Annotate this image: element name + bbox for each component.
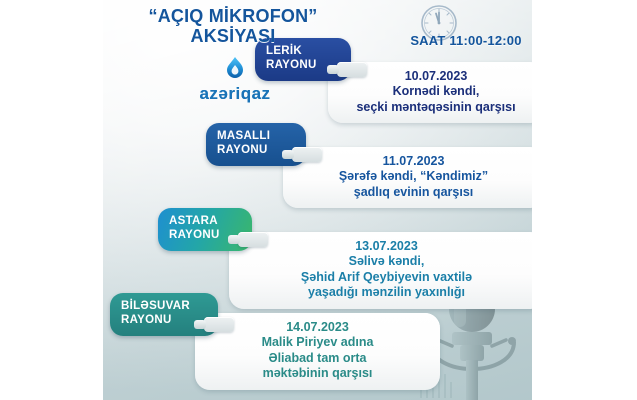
- connector-nub-icon: [204, 317, 234, 332]
- event-place-line-1: Malik Piriyev adına: [205, 335, 430, 351]
- gas-flame-icon: [223, 56, 247, 82]
- event-date: 11.07.2023: [293, 154, 532, 169]
- connector-nub-icon: [238, 232, 268, 247]
- page-title: “AÇIQ MİKROFON” AKSİYASI: [103, 6, 363, 46]
- district-badge-bilesuvar[interactable]: BİLƏSUVAR RAYONU: [110, 293, 218, 336]
- event-date: 13.07.2023: [239, 239, 532, 254]
- letterbox-left: [0, 0, 104, 400]
- district-name-line-1: ASTARA: [169, 215, 218, 227]
- event-card-astara[interactable]: 13.07.2023 Səlivə kəndi, Şəhid Arif Qeyb…: [229, 232, 532, 309]
- event-place-line-2: Əliabad tam orta: [205, 351, 430, 367]
- event-place-line-2: şadlıq evinin qarşısı: [293, 185, 532, 201]
- event-date: 10.07.2023: [338, 69, 532, 84]
- district-name-line-1: MASALLI: [217, 130, 270, 142]
- title-line-1: “AÇIQ MİKROFON”: [149, 6, 318, 26]
- announcement-poster: “AÇIQ MİKROFON” AKSİYASI azəriqaz: [103, 0, 532, 400]
- district-badge-astara[interactable]: ASTARA RAYONU: [158, 208, 252, 251]
- district-name-line-1: BİLƏSUVAR: [121, 300, 190, 312]
- letterbox-right: [532, 0, 637, 400]
- logo-text: azəriqaz: [125, 84, 345, 104]
- time-label: SAAT 11:00-12:00: [371, 33, 532, 48]
- event-place-line-1: Şərəfə kəndi, “Kəndimiz”: [293, 169, 532, 185]
- event-place-line-3: məktəbinin qarşısı: [205, 366, 430, 382]
- connector-nub-icon: [292, 147, 322, 162]
- event-place-line-1: Səlivə kəndi,: [239, 254, 532, 270]
- event-place-line-1: Kornədi kəndi,: [338, 84, 532, 100]
- district-badge-masalli[interactable]: MASALLI RAYONU: [206, 123, 306, 166]
- event-date: 14.07.2023: [205, 320, 430, 335]
- event-place-line-3: yaşadığı mənzilin yaxınlığı: [239, 285, 532, 301]
- event-place-line-2: Şəhid Arif Qeybiyevin vaxtilə: [239, 270, 532, 286]
- event-place-line-2: seçki məntəqəsinin qarşısı: [338, 100, 532, 116]
- title-line-2: AKSİYASI: [103, 26, 363, 46]
- azeriqaz-logo: azəriqaz: [125, 56, 345, 104]
